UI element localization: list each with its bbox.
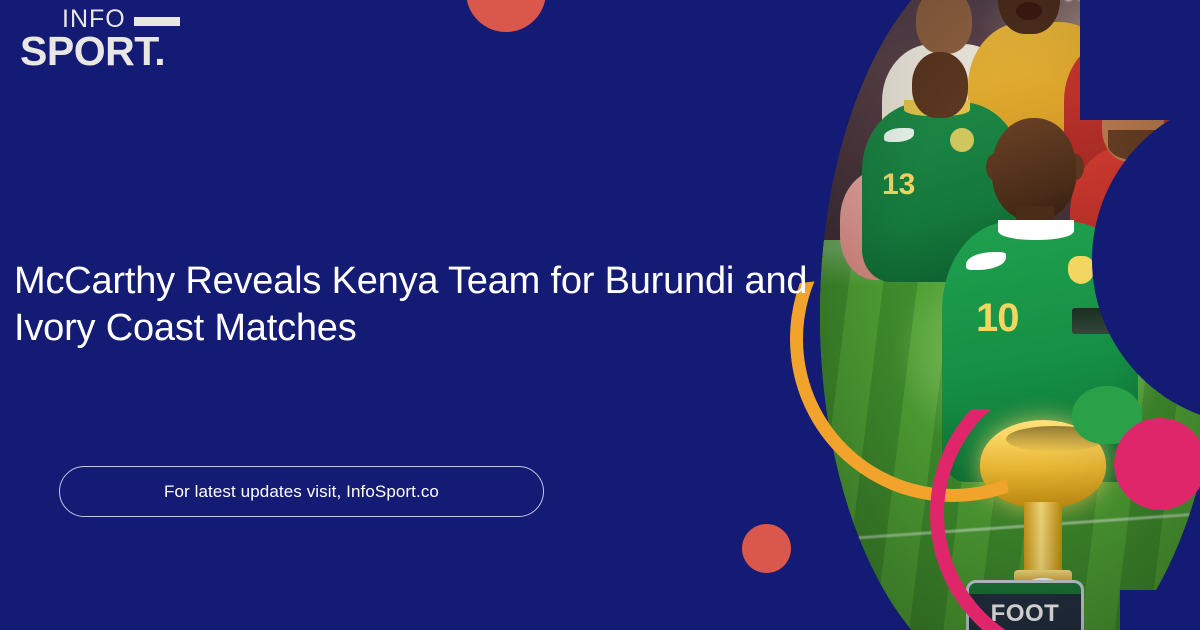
- player-green-13-head: [912, 52, 968, 118]
- player-front-head: [992, 118, 1076, 220]
- brand-logo-sport: SPORT.: [20, 30, 165, 72]
- player-backleft-head: [916, 0, 972, 54]
- decorative-circle-bottom: [742, 524, 791, 573]
- logo-bar-icon: [134, 17, 180, 26]
- team-crest-icon: [950, 128, 974, 152]
- brand-logo[interactable]: INFO SPORT.: [20, 6, 250, 68]
- team-crest-icon: [1068, 256, 1094, 284]
- player-gold-mouth: [1016, 2, 1042, 20]
- decorative-blob-pink: [1114, 418, 1200, 510]
- player-green-13-number: 13: [882, 168, 915, 202]
- navy-corner-bottom-right: [1120, 590, 1200, 630]
- page-title: McCarthy Reveals Kenya Team for Burundi …: [14, 258, 859, 352]
- decorative-circle-top: [466, 0, 546, 32]
- visit-site-button[interactable]: For latest updates visit, InfoSport.co: [59, 466, 544, 517]
- brand-logo-bottom-row: SPORT.: [20, 30, 250, 72]
- navy-corner-top-right: [1080, 0, 1200, 120]
- share-card: 13 11 10: [0, 0, 1200, 630]
- player-front-collar: [998, 220, 1074, 240]
